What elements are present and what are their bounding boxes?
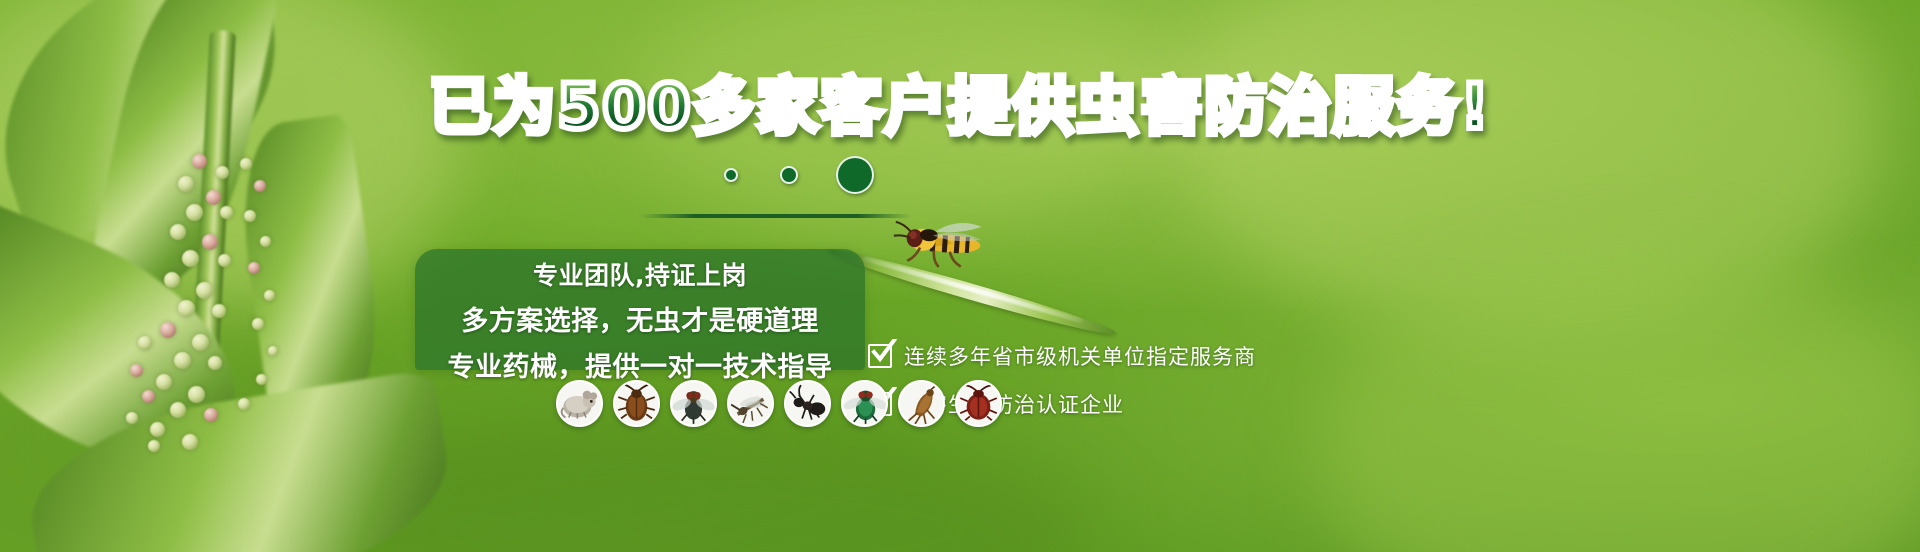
decorative-small-dot bbox=[724, 168, 738, 182]
flower-bud bbox=[206, 190, 221, 205]
flower-bud bbox=[256, 374, 267, 385]
flower-bud bbox=[156, 374, 172, 390]
flower-bud bbox=[208, 356, 222, 370]
bedbug-icon[interactable] bbox=[955, 380, 1002, 427]
flower-bud bbox=[182, 434, 198, 450]
flower-bud bbox=[244, 210, 256, 222]
flower-bud bbox=[220, 206, 233, 219]
flower-bud bbox=[216, 166, 229, 179]
flower-bud bbox=[148, 440, 160, 452]
blowfly-icon[interactable] bbox=[841, 380, 888, 427]
flower-bud bbox=[252, 318, 264, 330]
flower-bud bbox=[178, 176, 194, 192]
pest-icon-row bbox=[556, 380, 1002, 427]
flower-bud bbox=[264, 290, 275, 301]
decorative-large-dot bbox=[836, 156, 874, 194]
flower-bud bbox=[212, 304, 226, 318]
flower-bud bbox=[202, 234, 218, 250]
flower-bud bbox=[130, 364, 143, 377]
flower-bud bbox=[170, 402, 186, 418]
flower-bud bbox=[164, 272, 180, 288]
flower-bud bbox=[238, 398, 250, 410]
headline-text: 已为500多家客户提供虫害防治服务! bbox=[429, 70, 1491, 143]
flower-bud bbox=[240, 158, 252, 170]
cockroach-icon[interactable] bbox=[613, 380, 660, 427]
credential-label: 连续多年省市级机关单位指定服务商 bbox=[904, 341, 1256, 371]
flower-bud bbox=[126, 412, 138, 424]
decorative-medium-dot bbox=[780, 166, 798, 184]
flower-bud bbox=[196, 282, 213, 299]
banner-headline: 已为500多家客户提供虫害防治服务! bbox=[0, 76, 1920, 138]
flower-bud bbox=[248, 262, 260, 274]
hoverfly-illustration bbox=[863, 211, 986, 271]
pest-control-hero-banner: 已为500多家客户提供虫害防治服务! 专业团队,持证上岗 多方案选择，无虫才是硬… bbox=[0, 0, 1920, 552]
flower-bud bbox=[182, 250, 199, 267]
mosquito-icon[interactable] bbox=[727, 380, 774, 427]
flower-bud bbox=[192, 334, 209, 351]
rodent-icon[interactable] bbox=[556, 380, 603, 427]
checkbox-checked-icon bbox=[868, 344, 892, 368]
flower-bud bbox=[204, 408, 218, 422]
ant-icon[interactable] bbox=[784, 380, 831, 427]
list-item: 连续多年省市级机关单位指定服务商 bbox=[868, 332, 1256, 380]
flower-bud bbox=[138, 336, 152, 350]
selling-point-line-1: 专业团队,持证上岗 bbox=[415, 253, 865, 299]
flower-bud bbox=[170, 224, 186, 240]
flower-bud-cluster bbox=[120, 150, 350, 450]
flower-bud bbox=[186, 204, 203, 221]
flower-bud bbox=[150, 422, 165, 437]
flower-bud bbox=[160, 322, 176, 338]
flower-bud bbox=[218, 254, 231, 267]
flower-bud bbox=[260, 236, 271, 247]
flower-bud bbox=[254, 180, 266, 192]
flea-icon[interactable] bbox=[898, 380, 945, 427]
housefly-icon[interactable] bbox=[670, 380, 717, 427]
flower-bud bbox=[268, 346, 278, 356]
flower-bud bbox=[188, 386, 205, 403]
selling-points-text-group: 专业团队,持证上岗 多方案选择，无虫才是硬道理 专业药械，提供一对一技术指导 bbox=[415, 249, 865, 370]
flower-bud bbox=[142, 390, 155, 403]
flower-bud bbox=[178, 300, 195, 317]
flower-bud bbox=[192, 154, 207, 169]
selling-point-line-2: 多方案选择，无虫才是硬道理 bbox=[415, 299, 865, 345]
decorative-divider bbox=[640, 214, 912, 218]
flower-bud bbox=[174, 352, 191, 369]
